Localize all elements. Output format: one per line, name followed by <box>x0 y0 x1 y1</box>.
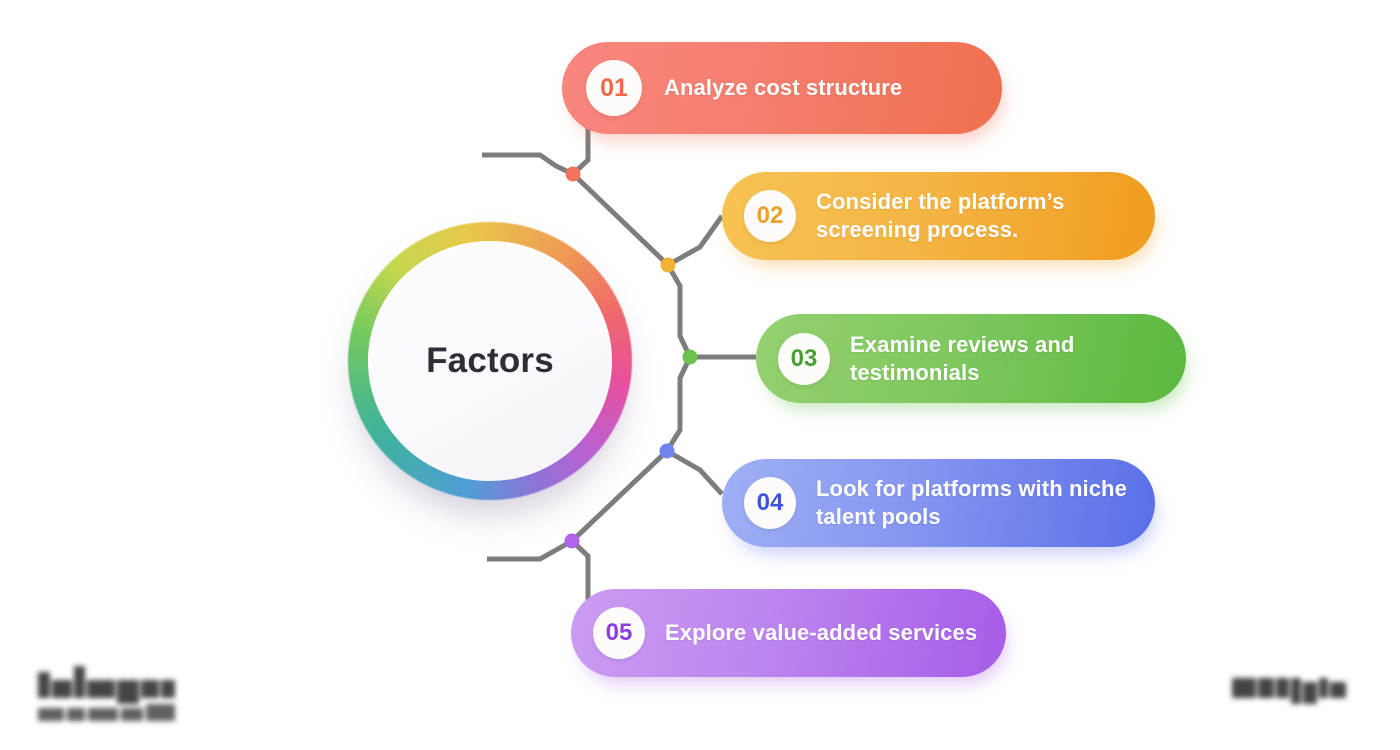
junction-dot-01 <box>566 167 581 182</box>
junction-dot-03 <box>683 350 698 365</box>
step-number-badge-03: 03 <box>778 333 830 385</box>
step-number-badge-02: 02 <box>744 190 796 242</box>
step-label-03: Examine reviews and testimonials <box>850 331 1186 386</box>
step-pill-03[interactable]: 03 Examine reviews and testimonials <box>756 314 1186 403</box>
junction-dot-04 <box>660 444 675 459</box>
step-pill-05[interactable]: 05 Explore value-added services <box>571 589 1006 677</box>
step-label-01: Analyze cost structure <box>664 74 902 102</box>
hub-inner-circle: Factors <box>368 241 612 481</box>
step-label-02: Consider the platform’s screening proces… <box>816 188 1155 243</box>
step-number-badge-01: 01 <box>586 60 642 116</box>
step-label-04: Look for platforms with niche talent poo… <box>816 475 1155 530</box>
step-number-badge-05: 05 <box>593 607 645 659</box>
step-pill-04[interactable]: 04 Look for platforms with niche talent … <box>722 459 1155 547</box>
brand-logo-bottom-left <box>36 660 206 720</box>
connector-stub-01 <box>482 155 573 174</box>
step-pill-02[interactable]: 02 Consider the platform’s screening pro… <box>722 172 1155 260</box>
junction-dot-02 <box>661 258 676 273</box>
step-pill-01[interactable]: 01 Analyze cost structure <box>562 42 1002 134</box>
infographic-canvas: Factors 01 Analyze cost structure 02 Con… <box>0 0 1400 750</box>
step-label-05: Explore value-added services <box>665 619 977 647</box>
connector-branch-02 <box>668 216 722 265</box>
connector-spine-mid-lower <box>667 357 690 451</box>
center-hub: Factors <box>348 222 632 500</box>
connector-spine-mid-upper <box>668 265 690 357</box>
hub-label: Factors <box>426 341 554 381</box>
step-number-badge-04: 04 <box>744 477 796 529</box>
junction-dot-05 <box>565 534 580 549</box>
connector-stub-05 <box>487 541 572 559</box>
connector-branch-04 <box>667 451 722 494</box>
brand-logo-bottom-right <box>1232 676 1362 706</box>
